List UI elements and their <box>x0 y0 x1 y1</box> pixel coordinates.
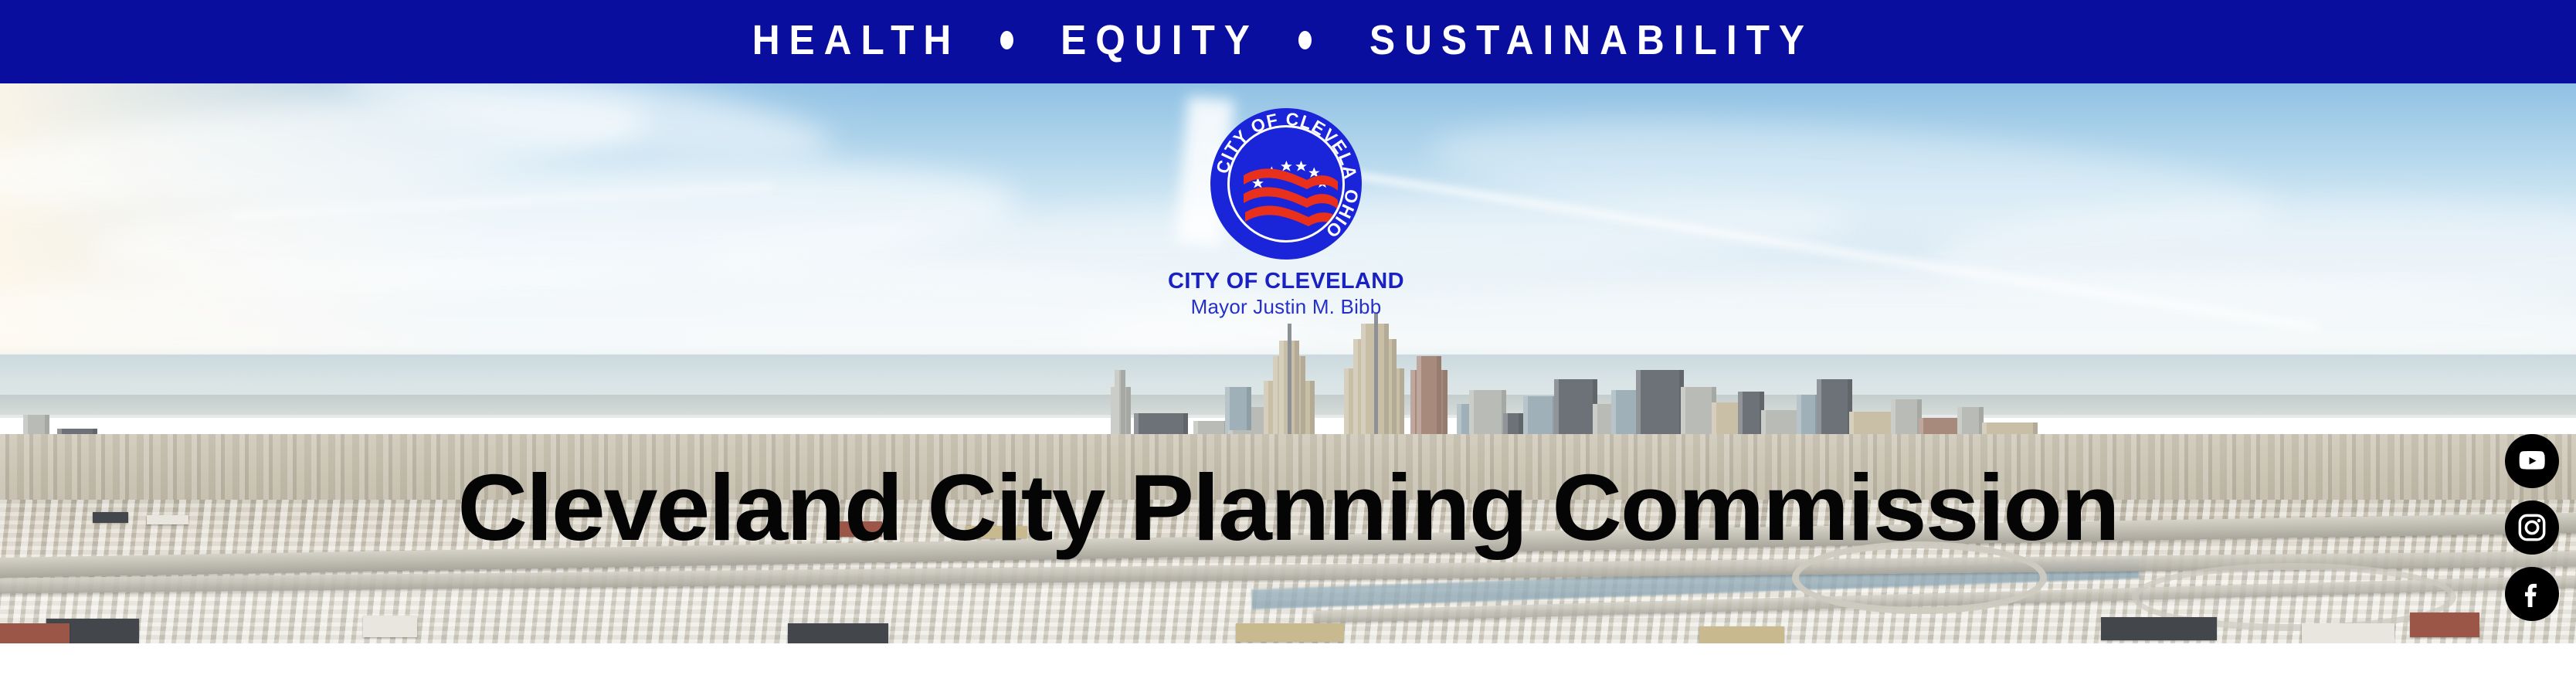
instagram-icon <box>2517 512 2547 543</box>
instagram-link[interactable] <box>2505 500 2559 555</box>
city-of-cleveland-seal-icon: CITY OF CLEVELAND OHIO <box>1210 108 1362 260</box>
organization-name: CITY OF CLEVELAND <box>1016 270 1556 293</box>
seal-flag-emblem <box>1230 127 1342 240</box>
facebook-link[interactable] <box>2505 567 2559 621</box>
bottom-spacer <box>0 643 2576 682</box>
youtube-icon <box>2517 446 2547 477</box>
mayor-name: Mayor Justin M. Bibb <box>1016 297 1556 317</box>
tagline-word-health: HEALTH <box>752 19 961 61</box>
city-branding-block: CITY OF CLEVELAND OHIO <box>1016 108 1556 318</box>
tagline-separator-dot-2 <box>1298 31 1312 49</box>
tagline-separator-dot-1 <box>1000 31 1013 49</box>
social-links <box>2505 434 2559 621</box>
tagline-inner: HEALTH EQUITY SUSTAINABILITY <box>743 19 1833 61</box>
tagline-word-sustainability: SUSTAINABILITY <box>1369 19 1814 61</box>
tagline-word-equity: EQUITY <box>1061 19 1259 61</box>
facebook-icon <box>2517 579 2547 609</box>
page-root: HEALTH EQUITY SUSTAINABILITY <box>0 0 2576 682</box>
page-title: Cleveland City Planning Commission <box>0 460 2576 555</box>
seal-flag-stripes <box>1244 168 1339 228</box>
tagline-banner: HEALTH EQUITY SUSTAINABILITY <box>0 0 2576 83</box>
youtube-link[interactable] <box>2505 434 2559 488</box>
